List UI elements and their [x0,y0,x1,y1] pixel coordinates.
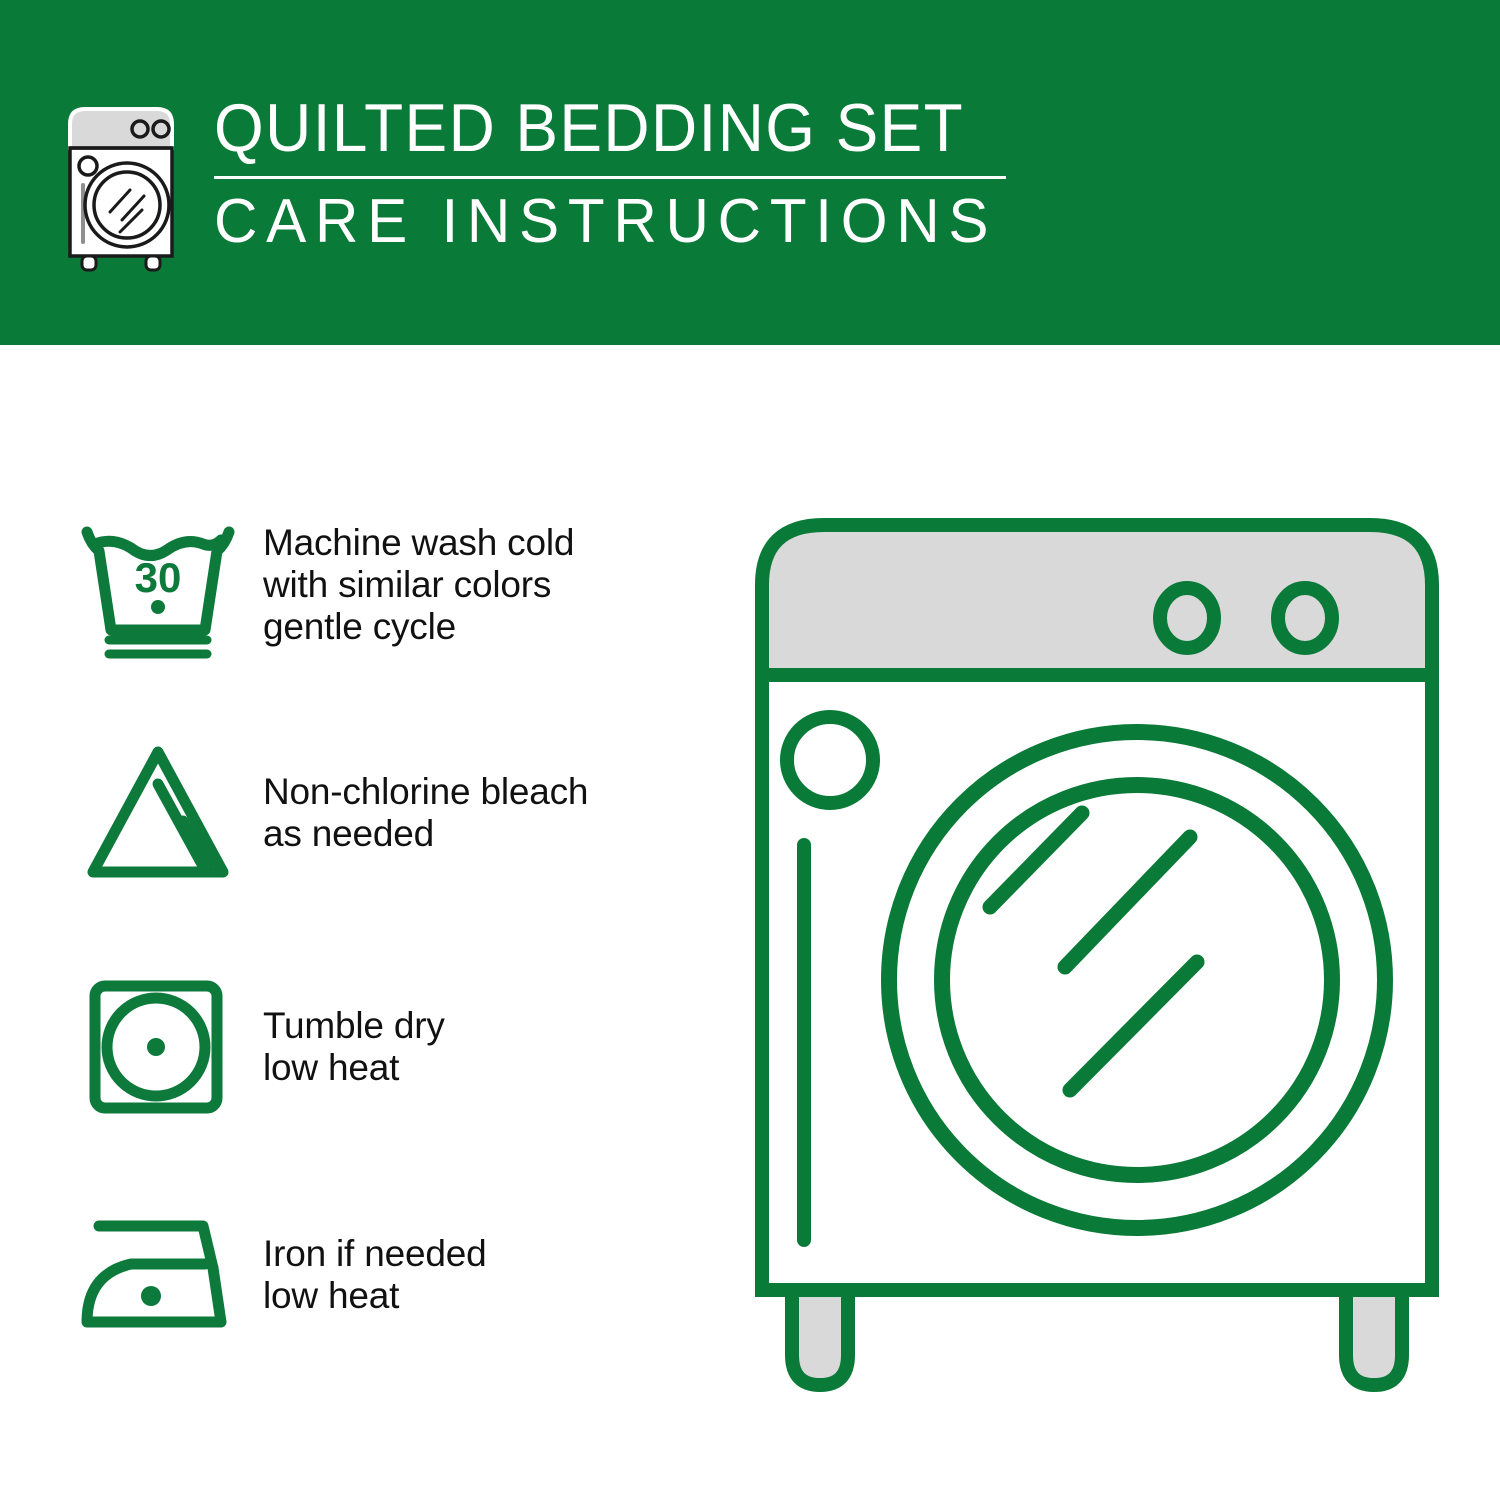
care-instruction-label: Iron if needed low heat [263,1233,486,1317]
page-title: QUILTED BEDDING SET [214,92,973,164]
care-instruction-label: Tumble dry low heat [263,1005,445,1089]
header-title-group: QUILTED BEDDING SET CARE INSTRUCTIONS [214,92,1021,255]
care-instruction-label: Machine wash cold with similar colors ge… [263,522,574,648]
header-content: QUILTED BEDDING SET CARE INSTRUCTIONS [60,92,1021,274]
care-row: 30 Machine wash cold with similar colors… [70,505,710,665]
control-knob-left [1160,588,1214,648]
control-knob-right [1278,588,1332,648]
care-row: Tumble dry low heat [70,967,710,1127]
washer-leg-right [1346,1290,1402,1385]
non-chlorine-bleach-triangle-icon [70,733,245,893]
front-load-washing-machine-illustration [742,500,1452,1420]
washer-leg-left [792,1290,848,1385]
wash-tub-30-gentle-icon: 30 [70,505,245,665]
care-instruction-label: Non-chlorine bleach as needed [263,771,588,855]
wash-temperature-label: 30 [134,554,181,601]
care-row: Non-chlorine bleach as needed [70,733,710,893]
care-row: Iron if needed low heat [70,1195,710,1355]
header-band: QUILTED BEDDING SET CARE INSTRUCTIONS [0,0,1500,345]
iron-low-heat-icon [70,1195,245,1355]
care-instructions-page: QUILTED BEDDING SET CARE INSTRUCTIONS [0,0,1500,1500]
title-divider [214,176,1006,179]
tumble-dry-low-heat-icon [70,967,245,1127]
page-subtitle: CARE INSTRUCTIONS [214,189,997,255]
washing-machine-icon [60,102,182,274]
